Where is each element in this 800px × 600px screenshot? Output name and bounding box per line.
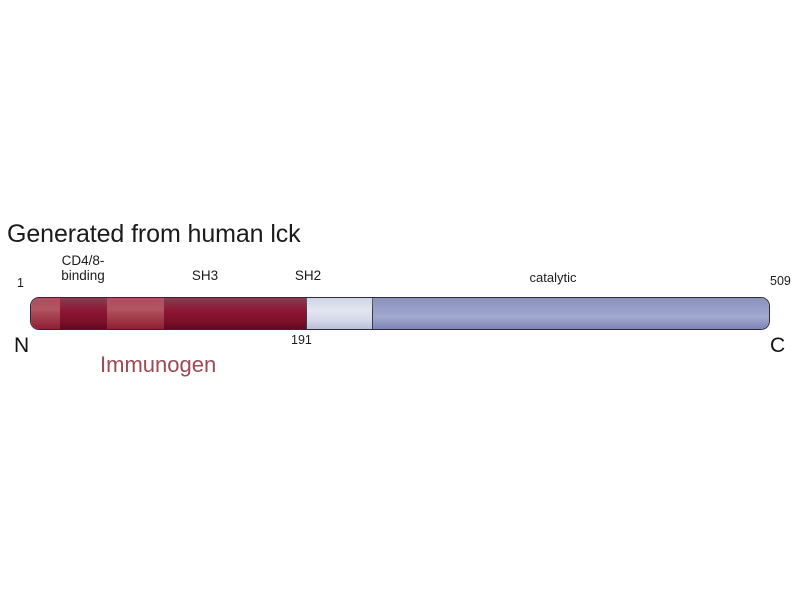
domain-label-cd4-8-binding: CD4/8- binding — [38, 253, 128, 283]
protein-domain-figure: Generated from human lck CD4/8- binding … — [0, 0, 800, 600]
domain-label-catalytic: catalytic — [503, 270, 603, 285]
segment-catalytic — [373, 298, 769, 329]
residue-number-end: 509 — [770, 274, 791, 288]
domain-bar-area: CD4/8- binding SH3 SH2 catalytic 1 191 5… — [0, 0, 800, 600]
domain-label-sh3: SH3 — [165, 268, 245, 283]
domain-label-cd4-8-binding-line2: binding — [38, 268, 128, 283]
domain-label-sh2: SH2 — [268, 268, 348, 283]
segment-sh2 — [306, 298, 373, 329]
segment-cd4-8-binding — [60, 298, 107, 329]
immunogen-label: Immunogen — [100, 352, 216, 378]
residue-number-start: 1 — [17, 276, 24, 290]
residue-number-immunogen-end: 191 — [291, 333, 312, 347]
terminus-n-label: N — [14, 334, 29, 358]
domain-label-cd4-8-binding-line1: CD4/8- — [38, 253, 128, 268]
segment-sh3 — [164, 298, 306, 329]
terminus-c-label: C — [770, 334, 785, 358]
protein-schematic-bar — [30, 297, 770, 330]
